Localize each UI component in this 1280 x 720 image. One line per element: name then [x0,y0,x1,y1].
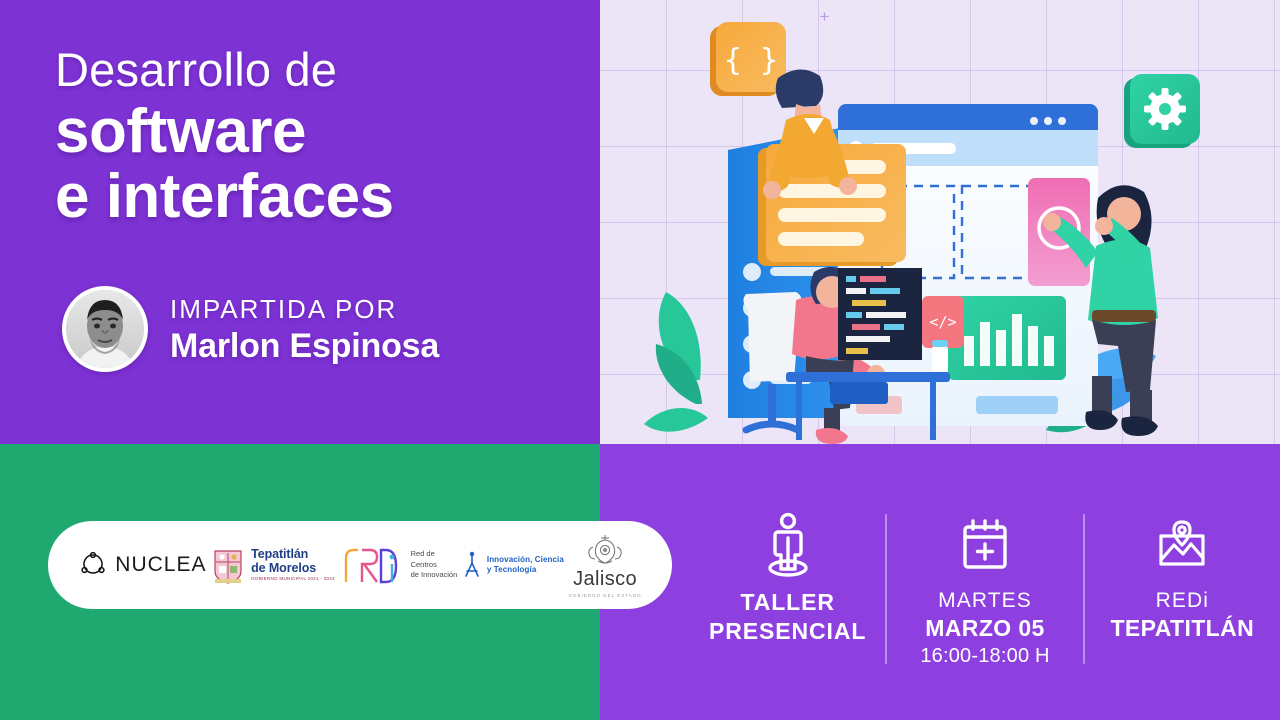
map-location-icon [1153,508,1211,582]
event-detail-date-line-2: MARZO 05 [920,614,1049,643]
headline-line-3: e interfaces [55,165,595,228]
headline-line-2: software [55,100,595,163]
redi-logo-icon [340,542,402,588]
gear-card [1124,74,1200,148]
event-detail-date-text: MARTES MARZO 05 16:00-18:00 H [920,588,1049,669]
event-detail-location-line-2: TEPATITLÁN [1110,614,1254,643]
speaker-block: IMPARTIDA POR Marlon Espinosa [62,286,439,372]
logo-redi-caption-2: Centros [411,560,458,571]
logo-jalisco: Jalisco GOBIERNO DEL ESTADO [569,533,642,598]
svg-text:{ }: { } [724,43,778,78]
logo-nuclea-label: NUCLEA [115,553,206,577]
logo-ict-line-1: Innovación, Ciencia [487,555,564,565]
logo-jalisco-sub: GOBIERNO DEL ESTADO [569,593,642,598]
logo-jalisco-label: Jalisco [573,568,637,591]
logo-redi: Red de Centros de Innovación [340,542,458,588]
ict-icon [462,550,482,580]
speaker-prefix: IMPARTIDA POR [170,294,439,325]
web-development-team-illustration: { } [600,0,1280,444]
sponsor-logo-bar: NUCLEA Tepatitlán de Morelos GOBIERNO MU… [48,521,672,609]
event-details-row: TALLER PRESENCIAL MARTES MARZO 05 [690,500,1280,680]
jalisco-coat-of-arms-icon [586,533,624,567]
person-standing-icon [760,508,816,582]
event-detail-format-text: TALLER PRESENCIAL [709,588,866,646]
event-detail-format-line-1: TALLER [709,588,866,617]
plant-left [644,292,708,432]
svg-text:</>: </> [929,313,956,331]
poster-headline: Desarrollo de software e interfaces [55,46,595,228]
logo-tepatitlan-line-1: Tepatitlán [251,548,335,562]
event-detail-location-text: REDi TEPATITLÁN [1110,588,1254,643]
calendar-plus-icon [958,508,1012,582]
event-detail-date: MARTES MARZO 05 16:00-18:00 H [887,500,1082,669]
event-detail-location-line-1: REDi [1110,588,1254,614]
event-detail-date-line-3: 16:00-18:00 H [920,643,1049,669]
code-braces-card: { } [710,22,786,96]
logo-tepatitlan: Tepatitlán de Morelos GOBIERNO MUNICIPAL… [211,545,335,585]
event-poster: + [0,0,1280,720]
event-detail-date-line-1: MARTES [920,588,1049,614]
nuclea-atom-icon [78,550,108,580]
headline-line-1: Desarrollo de [55,46,595,93]
logo-redi-caption: Red de Centros de Innovación [411,549,458,582]
event-detail-format: TALLER PRESENCIAL [690,500,885,646]
gear-icon [1144,88,1186,130]
logo-nuclea: NUCLEA [78,550,206,580]
speaker-name: Marlon Espinosa [170,327,439,366]
logo-redi-caption-3: de Innovación [411,570,458,581]
speaker-portrait-icon [66,290,144,368]
avatar [62,286,148,372]
bar-chart-panel [948,296,1066,380]
logo-tepatitlan-sub: GOBIERNO MUNICIPAL 2021 - 2024 [251,577,335,582]
logo-redi-caption-1: Red de [411,549,458,560]
tepatitlan-coat-of-arms-icon [211,545,245,585]
event-detail-format-line-2: PRESENCIAL [709,617,866,646]
event-detail-location: REDi TEPATITLÁN [1085,500,1280,643]
logo-innovacion-ciencia-tecnologia: Innovación, Ciencia y Tecnología [462,550,564,580]
logo-tepatitlan-line-2: de Morelos [251,562,335,576]
logo-ict-line-2: y Tecnología [487,565,564,575]
